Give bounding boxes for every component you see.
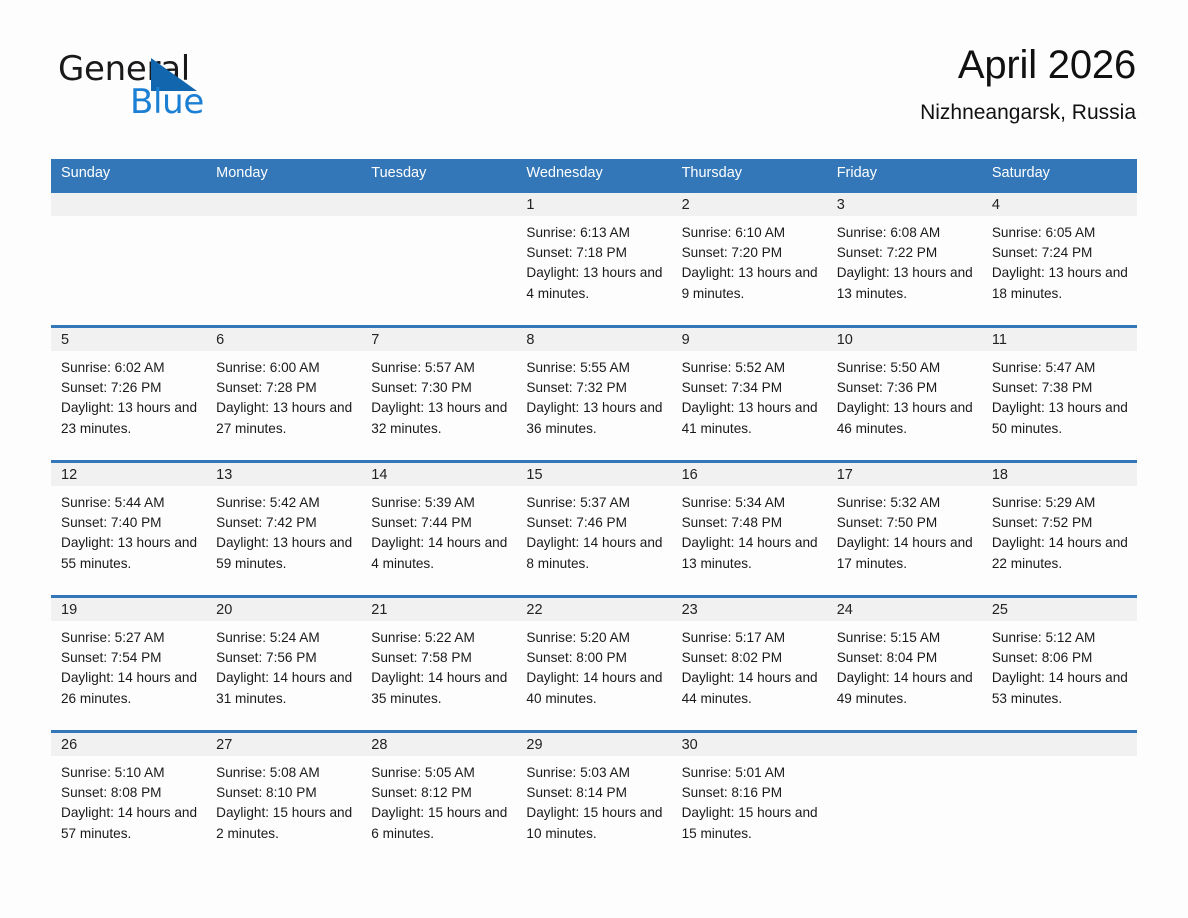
day-cell[interactable]: 5 Sunrise: 6:02 AM Sunset: 7:26 PM Dayli…: [51, 326, 206, 461]
day-cell[interactable]: 17 Sunrise: 5:32 AM Sunset: 7:50 PM Dayl…: [827, 461, 982, 596]
day-number: 7: [361, 328, 516, 351]
day-details: Sunrise: 5:37 AM Sunset: 7:46 PM Dayligh…: [516, 486, 671, 574]
day-number: 3: [827, 193, 982, 216]
day-cell[interactable]: 23 Sunrise: 5:17 AM Sunset: 8:02 PM Dayl…: [672, 596, 827, 731]
calendar-header-row: Sunday Monday Tuesday Wednesday Thursday…: [51, 159, 1137, 191]
day-number: 15: [516, 463, 671, 486]
day-number: 25: [982, 598, 1137, 621]
day-cell[interactable]: 19 Sunrise: 5:27 AM Sunset: 7:54 PM Dayl…: [51, 596, 206, 731]
day-number: [982, 733, 1137, 756]
day-number: 27: [206, 733, 361, 756]
day-details: Sunrise: 5:32 AM Sunset: 7:50 PM Dayligh…: [827, 486, 982, 574]
day-number: 18: [982, 463, 1137, 486]
day-cell[interactable]: 30 Sunrise: 5:01 AM Sunset: 8:16 PM Dayl…: [672, 731, 827, 866]
day-number: 16: [672, 463, 827, 486]
day-number: 26: [51, 733, 206, 756]
weekday-header-wednesday: Wednesday: [516, 159, 671, 191]
day-cell[interactable]: [361, 191, 516, 326]
day-cell[interactable]: 9 Sunrise: 5:52 AM Sunset: 7:34 PM Dayli…: [672, 326, 827, 461]
day-details: Sunrise: 6:00 AM Sunset: 7:28 PM Dayligh…: [206, 351, 361, 439]
day-cell[interactable]: 26 Sunrise: 5:10 AM Sunset: 8:08 PM Dayl…: [51, 731, 206, 866]
day-details: Sunrise: 6:13 AM Sunset: 7:18 PM Dayligh…: [516, 216, 671, 304]
day-cell[interactable]: 24 Sunrise: 5:15 AM Sunset: 8:04 PM Dayl…: [827, 596, 982, 731]
day-cell[interactable]: [51, 191, 206, 326]
calendar-week-row: 26 Sunrise: 5:10 AM Sunset: 8:08 PM Dayl…: [51, 731, 1137, 866]
day-cell[interactable]: 25 Sunrise: 5:12 AM Sunset: 8:06 PM Dayl…: [982, 596, 1137, 731]
day-details: Sunrise: 5:42 AM Sunset: 7:42 PM Dayligh…: [206, 486, 361, 574]
calendar-week-row: 12 Sunrise: 5:44 AM Sunset: 7:40 PM Dayl…: [51, 461, 1137, 596]
day-details: Sunrise: 5:15 AM Sunset: 8:04 PM Dayligh…: [827, 621, 982, 709]
day-number: 23: [672, 598, 827, 621]
day-cell[interactable]: 2 Sunrise: 6:10 AM Sunset: 7:20 PM Dayli…: [672, 191, 827, 326]
day-number: 11: [982, 328, 1137, 351]
day-number: 20: [206, 598, 361, 621]
day-number: 14: [361, 463, 516, 486]
title-block: April 2026 Nizhneangarsk, Russia: [920, 44, 1136, 124]
weekday-header-saturday: Saturday: [982, 159, 1137, 191]
day-cell[interactable]: [982, 731, 1137, 866]
day-details: Sunrise: 5:47 AM Sunset: 7:38 PM Dayligh…: [982, 351, 1137, 439]
day-number: 1: [516, 193, 671, 216]
day-number: 30: [672, 733, 827, 756]
day-cell[interactable]: 1 Sunrise: 6:13 AM Sunset: 7:18 PM Dayli…: [516, 191, 671, 326]
weekday-header-monday: Monday: [206, 159, 361, 191]
day-cell[interactable]: 28 Sunrise: 5:05 AM Sunset: 8:12 PM Dayl…: [361, 731, 516, 866]
weekday-header-friday: Friday: [827, 159, 982, 191]
weekday-header-thursday: Thursday: [672, 159, 827, 191]
day-cell[interactable]: [206, 191, 361, 326]
calendar-body: 1 Sunrise: 6:13 AM Sunset: 7:18 PM Dayli…: [51, 191, 1137, 866]
day-number: [206, 193, 361, 216]
calendar-grid: Sunday Monday Tuesday Wednesday Thursday…: [51, 159, 1137, 866]
day-details: Sunrise: 5:50 AM Sunset: 7:36 PM Dayligh…: [827, 351, 982, 439]
day-number: [51, 193, 206, 216]
day-details: Sunrise: 6:10 AM Sunset: 7:20 PM Dayligh…: [672, 216, 827, 304]
day-details: Sunrise: 5:27 AM Sunset: 7:54 PM Dayligh…: [51, 621, 206, 709]
day-number: 8: [516, 328, 671, 351]
day-cell[interactable]: [827, 731, 982, 866]
day-details: Sunrise: 5:08 AM Sunset: 8:10 PM Dayligh…: [206, 756, 361, 844]
location-subtitle: Nizhneangarsk, Russia: [920, 101, 1136, 124]
brand-name-blue: Blue: [130, 85, 204, 119]
day-cell[interactable]: 12 Sunrise: 5:44 AM Sunset: 7:40 PM Dayl…: [51, 461, 206, 596]
page-title: April 2026: [920, 44, 1136, 87]
day-details: Sunrise: 5:57 AM Sunset: 7:30 PM Dayligh…: [361, 351, 516, 439]
day-cell[interactable]: 16 Sunrise: 5:34 AM Sunset: 7:48 PM Dayl…: [672, 461, 827, 596]
day-number: 9: [672, 328, 827, 351]
day-details: Sunrise: 5:52 AM Sunset: 7:34 PM Dayligh…: [672, 351, 827, 439]
day-details: Sunrise: 5:29 AM Sunset: 7:52 PM Dayligh…: [982, 486, 1137, 574]
day-cell[interactable]: 15 Sunrise: 5:37 AM Sunset: 7:46 PM Dayl…: [516, 461, 671, 596]
day-number: 17: [827, 463, 982, 486]
day-details: Sunrise: 5:05 AM Sunset: 8:12 PM Dayligh…: [361, 756, 516, 844]
day-number: 28: [361, 733, 516, 756]
day-cell[interactable]: 14 Sunrise: 5:39 AM Sunset: 7:44 PM Dayl…: [361, 461, 516, 596]
day-number: 2: [672, 193, 827, 216]
day-details: Sunrise: 5:10 AM Sunset: 8:08 PM Dayligh…: [51, 756, 206, 844]
day-details: Sunrise: 6:05 AM Sunset: 7:24 PM Dayligh…: [982, 216, 1137, 304]
day-cell[interactable]: 27 Sunrise: 5:08 AM Sunset: 8:10 PM Dayl…: [206, 731, 361, 866]
day-number: 10: [827, 328, 982, 351]
day-number: 5: [51, 328, 206, 351]
day-cell[interactable]: 11 Sunrise: 5:47 AM Sunset: 7:38 PM Dayl…: [982, 326, 1137, 461]
day-details: Sunrise: 5:01 AM Sunset: 8:16 PM Dayligh…: [672, 756, 827, 844]
day-number: 29: [516, 733, 671, 756]
day-number: 12: [51, 463, 206, 486]
day-number: 21: [361, 598, 516, 621]
day-cell[interactable]: 4 Sunrise: 6:05 AM Sunset: 7:24 PM Dayli…: [982, 191, 1137, 326]
day-cell[interactable]: 10 Sunrise: 5:50 AM Sunset: 7:36 PM Dayl…: [827, 326, 982, 461]
day-cell[interactable]: 3 Sunrise: 6:08 AM Sunset: 7:22 PM Dayli…: [827, 191, 982, 326]
calendar-week-row: 1 Sunrise: 6:13 AM Sunset: 7:18 PM Dayli…: [51, 191, 1137, 326]
day-cell[interactable]: 21 Sunrise: 5:22 AM Sunset: 7:58 PM Dayl…: [361, 596, 516, 731]
day-number: 6: [206, 328, 361, 351]
day-details: Sunrise: 5:44 AM Sunset: 7:40 PM Dayligh…: [51, 486, 206, 574]
calendar-container: Sunday Monday Tuesday Wednesday Thursday…: [51, 159, 1137, 866]
day-details: Sunrise: 5:55 AM Sunset: 7:32 PM Dayligh…: [516, 351, 671, 439]
day-cell[interactable]: 13 Sunrise: 5:42 AM Sunset: 7:42 PM Dayl…: [206, 461, 361, 596]
day-details: Sunrise: 5:12 AM Sunset: 8:06 PM Dayligh…: [982, 621, 1137, 709]
day-number: 19: [51, 598, 206, 621]
day-details: Sunrise: 6:08 AM Sunset: 7:22 PM Dayligh…: [827, 216, 982, 304]
day-number: 13: [206, 463, 361, 486]
day-cell[interactable]: 20 Sunrise: 5:24 AM Sunset: 7:56 PM Dayl…: [206, 596, 361, 731]
calendar-page: General Blue April 2026 Nizhneangarsk, R…: [0, 0, 1188, 918]
day-number: [361, 193, 516, 216]
day-details: Sunrise: 6:02 AM Sunset: 7:26 PM Dayligh…: [51, 351, 206, 439]
day-details: Sunrise: 5:22 AM Sunset: 7:58 PM Dayligh…: [361, 621, 516, 709]
calendar-week-row: 5 Sunrise: 6:02 AM Sunset: 7:26 PM Dayli…: [51, 326, 1137, 461]
day-cell[interactable]: 7 Sunrise: 5:57 AM Sunset: 7:30 PM Dayli…: [361, 326, 516, 461]
day-details: Sunrise: 5:34 AM Sunset: 7:48 PM Dayligh…: [672, 486, 827, 574]
day-details: Sunrise: 5:03 AM Sunset: 8:14 PM Dayligh…: [516, 756, 671, 844]
day-cell[interactable]: 18 Sunrise: 5:29 AM Sunset: 7:52 PM Dayl…: [982, 461, 1137, 596]
day-cell[interactable]: 22 Sunrise: 5:20 AM Sunset: 8:00 PM Dayl…: [516, 596, 671, 731]
day-details: Sunrise: 5:17 AM Sunset: 8:02 PM Dayligh…: [672, 621, 827, 709]
day-cell[interactable]: 8 Sunrise: 5:55 AM Sunset: 7:32 PM Dayli…: [516, 326, 671, 461]
calendar-week-row: 19 Sunrise: 5:27 AM Sunset: 7:54 PM Dayl…: [51, 596, 1137, 731]
weekday-header-tuesday: Tuesday: [361, 159, 516, 191]
day-details: Sunrise: 5:24 AM Sunset: 7:56 PM Dayligh…: [206, 621, 361, 709]
day-cell[interactable]: 29 Sunrise: 5:03 AM Sunset: 8:14 PM Dayl…: [516, 731, 671, 866]
weekday-header-sunday: Sunday: [51, 159, 206, 191]
page-header: General Blue April 2026 Nizhneangarsk, R…: [0, 0, 1188, 152]
day-number: 4: [982, 193, 1137, 216]
day-number: 22: [516, 598, 671, 621]
day-details: Sunrise: 5:39 AM Sunset: 7:44 PM Dayligh…: [361, 486, 516, 574]
day-details: Sunrise: 5:20 AM Sunset: 8:00 PM Dayligh…: [516, 621, 671, 709]
day-number: [827, 733, 982, 756]
day-number: 24: [827, 598, 982, 621]
day-cell[interactable]: 6 Sunrise: 6:00 AM Sunset: 7:28 PM Dayli…: [206, 326, 361, 461]
brand-logo[interactable]: General Blue: [58, 52, 298, 132]
